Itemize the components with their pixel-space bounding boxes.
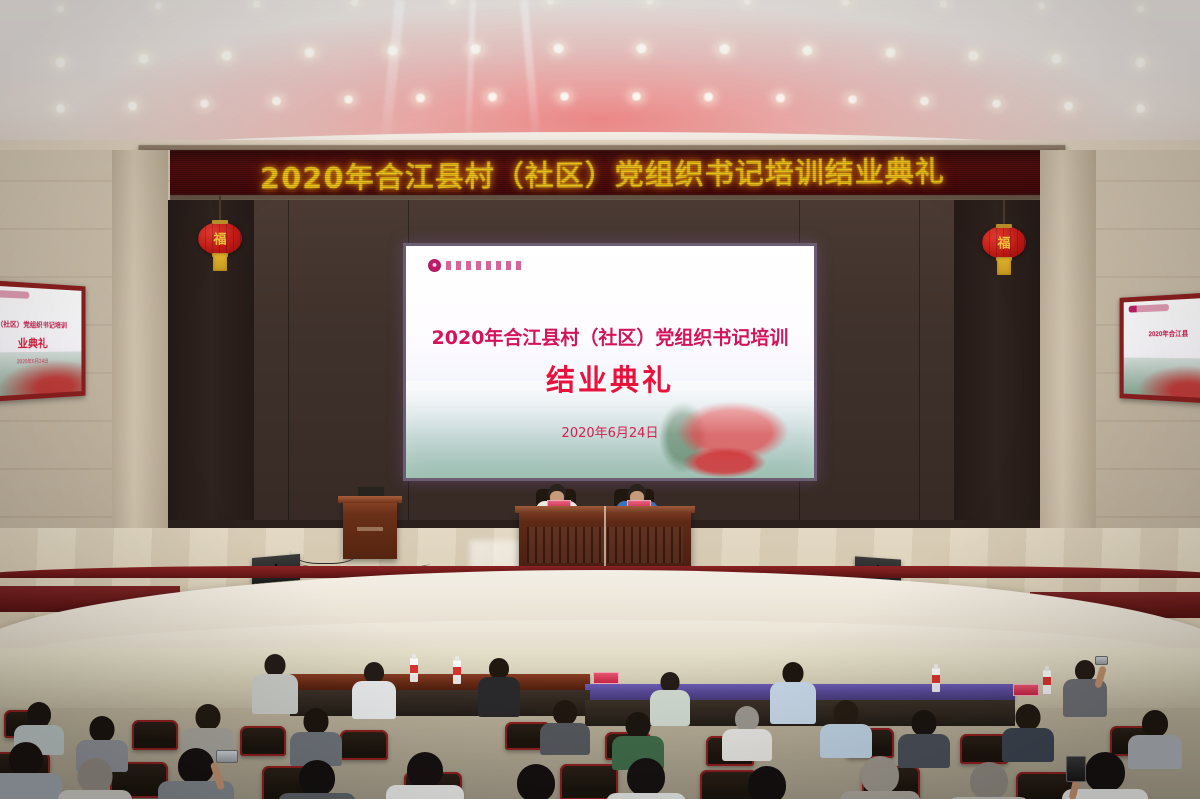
lantern-cap xyxy=(212,220,228,224)
lectern-top xyxy=(338,496,402,503)
standing-attendee-with-phone xyxy=(1063,660,1107,712)
ceiling-downlight xyxy=(198,99,211,109)
ceiling-downlight xyxy=(840,0,851,7)
ceiling-downlight xyxy=(270,96,283,106)
mobile-phone[interactable] xyxy=(1095,656,1108,665)
ceiling-downlight xyxy=(545,0,556,5)
person-torso xyxy=(540,723,590,755)
person-head xyxy=(196,704,221,730)
standing-attendee xyxy=(770,662,816,718)
lantern-cord xyxy=(1003,200,1005,226)
person-head xyxy=(364,662,384,683)
ceiling-downlight xyxy=(1134,104,1147,114)
person-torso xyxy=(278,793,356,799)
ceiling-downlight xyxy=(414,93,427,103)
ceiling xyxy=(0,0,1200,150)
audience-member-front xyxy=(58,758,132,799)
ceiling-downlight xyxy=(966,50,981,61)
audience-member-front xyxy=(496,764,576,799)
person-head xyxy=(1016,704,1041,730)
name-card xyxy=(1013,684,1039,696)
water-bottle xyxy=(1043,670,1051,694)
ceiling-downlight xyxy=(1133,57,1148,68)
ceiling-downlight xyxy=(1135,5,1146,13)
person-head xyxy=(178,748,214,784)
audience-desk-row xyxy=(290,674,590,690)
person-torso xyxy=(840,791,920,799)
ceiling-downlight xyxy=(136,53,151,64)
right-wall-monitor: 2020年合江县 xyxy=(1120,292,1200,404)
audience-member xyxy=(290,708,342,756)
lantern-body: 福 xyxy=(982,226,1026,259)
audience-member xyxy=(820,700,872,748)
ceiling-downlight xyxy=(558,92,571,102)
person-head xyxy=(1075,660,1095,681)
audience-member-front xyxy=(278,760,356,799)
projection-screen-frame: 2020年合江县村（社区）党组织书记培训 结业典礼 2020年6月24日 xyxy=(403,243,817,481)
ceiling-downlight xyxy=(1036,2,1047,10)
ceiling-downlight xyxy=(447,0,458,5)
ceiling-downlight xyxy=(742,0,753,5)
person-torso xyxy=(478,677,520,717)
ceiling-downlight xyxy=(251,0,262,8)
backdrop-seam xyxy=(919,200,920,530)
left-monitor-title: （社区）党组织书记培训 xyxy=(0,319,78,331)
water-bottle xyxy=(453,660,461,684)
lantern-tassel xyxy=(213,254,227,271)
ceiling-downlight xyxy=(630,92,643,102)
ceiling-downlight xyxy=(153,2,164,10)
institute-logo xyxy=(0,289,29,298)
audience-member-front-with-phone xyxy=(158,748,234,799)
audience-member xyxy=(76,716,128,762)
ceiling-downlight xyxy=(644,0,655,5)
person-torso xyxy=(58,790,132,799)
person-torso xyxy=(606,793,686,799)
left-monitor-slide: （社区）党组织书记培训 业典礼 2020年6月24日 xyxy=(0,285,81,397)
theater-seat xyxy=(340,730,388,760)
standing-attendee xyxy=(252,654,298,710)
audience-member xyxy=(182,704,234,752)
lantern-body: 福 xyxy=(198,222,242,255)
ceiling-downlight xyxy=(126,101,139,111)
ceiling-downlight xyxy=(342,95,355,105)
logo-mark-icon xyxy=(428,259,441,272)
water-bottle xyxy=(410,658,418,682)
person-head xyxy=(970,762,1008,799)
ceiling-downlight xyxy=(54,104,67,114)
audience-member xyxy=(612,712,664,760)
ceiling-downlight xyxy=(349,0,360,7)
person-torso xyxy=(722,729,772,761)
person-head xyxy=(748,766,786,799)
slide-subtitle: 结业典礼 xyxy=(406,357,814,399)
person-head xyxy=(783,662,804,684)
audience-area xyxy=(0,648,1200,799)
ceiling-downlight xyxy=(634,43,649,54)
theater-seat xyxy=(240,726,286,756)
lantern-cap xyxy=(996,224,1012,228)
ceiling-downlight xyxy=(1062,101,1075,111)
projection-screen: 2020年合江县村（社区）党组织书记培训 结业典礼 2020年6月24日 xyxy=(406,246,814,478)
backdrop-seam xyxy=(288,200,289,530)
ceiling-downlight xyxy=(702,92,715,102)
lectern-plate xyxy=(357,527,383,531)
audience-member xyxy=(1002,704,1054,752)
person-head xyxy=(407,752,443,788)
ceiling-downlight xyxy=(846,95,859,105)
mobile-phone[interactable] xyxy=(216,750,238,763)
person-torso xyxy=(0,773,62,799)
ceiling-downlight xyxy=(938,0,949,8)
ceiling-downlight xyxy=(883,47,898,58)
person-head xyxy=(304,708,329,734)
ceiling-downlight xyxy=(1049,53,1064,64)
ceiling-downlight xyxy=(53,57,68,68)
audience-member-front xyxy=(386,752,464,799)
mobile-phone[interactable] xyxy=(1066,756,1086,782)
ceiling-downlight xyxy=(717,43,732,54)
ceiling-downlight xyxy=(990,99,1003,109)
person-head xyxy=(912,710,937,736)
person-torso xyxy=(1002,728,1054,762)
audience-member-front xyxy=(948,762,1030,799)
lantern-cord xyxy=(219,196,221,222)
person-torso xyxy=(820,724,872,758)
person-head xyxy=(27,702,51,727)
slide-date: 2020年6月24日 xyxy=(406,422,814,441)
person-head xyxy=(517,764,555,799)
person-head xyxy=(627,758,665,796)
person-head xyxy=(735,706,759,731)
standing-attendee xyxy=(478,658,520,712)
head-table xyxy=(519,511,691,569)
left-wall-monitor: （社区）党组织书记培训 业典礼 2020年6月24日 xyxy=(0,279,85,403)
audience-member-front xyxy=(0,742,62,799)
table-divider xyxy=(604,506,606,569)
auditorium-photo: 2020年合江县村（社区）党组织书记培训结业典礼 福 福 xyxy=(0,0,1200,799)
person-torso xyxy=(386,785,464,799)
audience-member-front-with-phone xyxy=(1062,752,1148,799)
red-lantern-left: 福 xyxy=(198,222,242,255)
slide-title: 2020年合江县村（社区）党组织书记培训 xyxy=(406,323,814,350)
red-lantern-right: 福 xyxy=(982,226,1026,259)
water-bottle xyxy=(932,668,940,692)
ceiling-downlight xyxy=(551,43,566,54)
person-head xyxy=(553,700,577,725)
slide-background-photo xyxy=(1124,357,1200,398)
name-card xyxy=(593,672,619,684)
left-monitor-subtitle: 业典礼 xyxy=(0,334,78,351)
person-head xyxy=(1085,752,1125,792)
logo-wordmark xyxy=(446,261,524,270)
person-torso xyxy=(352,681,396,719)
audience-member xyxy=(722,706,772,752)
ceiling-downlight xyxy=(219,50,234,61)
ceiling-downlight xyxy=(800,45,815,56)
led-banner-panel: 2020年合江县村（社区）党组织书记培训结业典礼 xyxy=(143,150,1060,195)
institute-logo xyxy=(428,259,524,272)
audience-member-front xyxy=(726,766,808,799)
ceiling-downlight xyxy=(486,92,499,102)
led-banner-frame: 2020年合江县村（社区）党组织书记培训结业典礼 xyxy=(137,145,1066,200)
lantern-glyph: 福 xyxy=(213,228,226,247)
person-head xyxy=(489,658,509,679)
person-head xyxy=(90,716,115,742)
audience-member-front xyxy=(606,758,686,799)
lantern-glyph: 福 xyxy=(997,232,1010,251)
lantern-tassel xyxy=(997,258,1011,275)
theater-seat xyxy=(960,734,1008,764)
theater-seat xyxy=(132,720,178,750)
ceiling-downlight xyxy=(774,93,787,103)
audience-member xyxy=(540,700,590,746)
person-head xyxy=(661,672,680,692)
person-head xyxy=(78,758,113,793)
ceiling-downlight xyxy=(302,47,317,58)
right-monitor-slide: 2020年合江县 xyxy=(1124,297,1200,398)
right-monitor-title: 2020年合江县 xyxy=(1127,328,1200,339)
audience-member xyxy=(898,710,950,758)
person-head xyxy=(1142,710,1168,737)
ceiling-downlight xyxy=(918,96,931,106)
person-head xyxy=(265,654,286,676)
person-head xyxy=(861,756,899,794)
institute-logo xyxy=(1129,304,1169,313)
person-head xyxy=(834,700,859,726)
audience-member xyxy=(14,702,64,746)
ceiling-downlight xyxy=(55,5,66,13)
person-head xyxy=(299,760,335,796)
person-torso xyxy=(770,682,816,724)
person-head xyxy=(9,742,43,776)
audience-member-front xyxy=(840,756,920,799)
led-banner-text: 2020年合江县村（社区）党组织书记培训结业典礼 xyxy=(259,150,944,195)
person-head xyxy=(626,712,651,738)
standing-attendee xyxy=(352,662,396,714)
